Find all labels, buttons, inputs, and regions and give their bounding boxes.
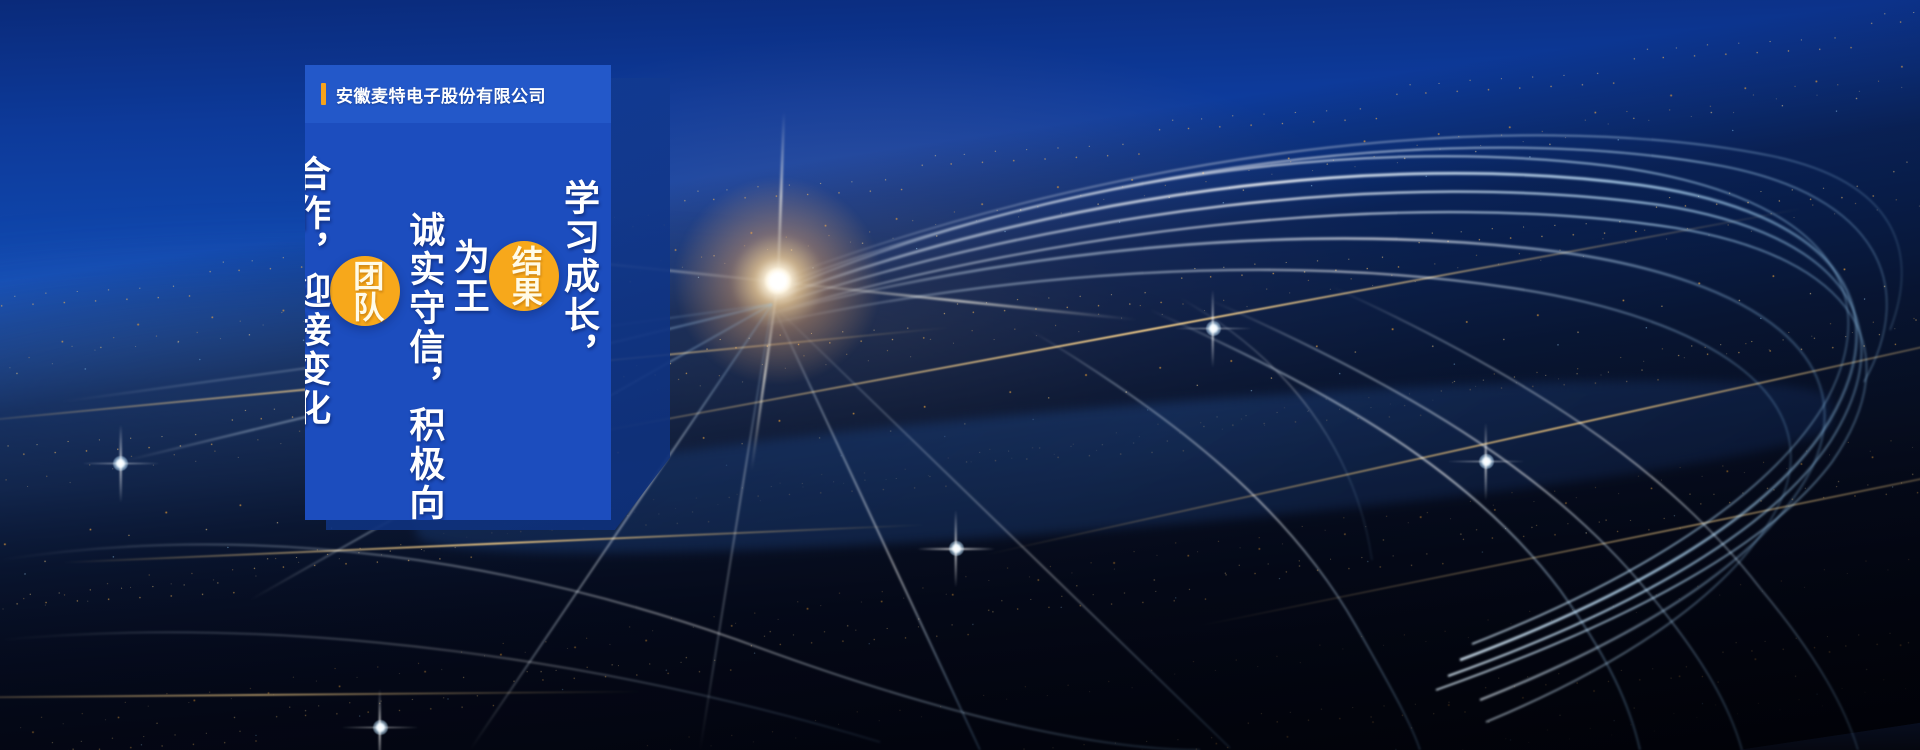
slogan-badge-text: 团队 [349,260,381,322]
card-header: 安徽麦特电子股份有限公司 [305,65,611,123]
network-node [1479,454,1494,469]
slogan-text: 为王 [448,238,488,316]
company-banner: 安徽麦特电子股份有限公司 学习成长， 结果 为王 诚实守信，积极向上 团队 合作… [0,0,1920,750]
slogan-column-teamwork: 团队 合作，迎接变化 [290,145,400,428]
slogan-column-learning: 学习成长， 结果 为王 [448,145,599,374]
slogan-badge-result: 结果 [489,241,559,311]
slogan-text: 诚实守信，积极向上 [404,211,444,562]
network-node [1206,321,1221,336]
slogan-columns: 学习成长， 结果 为王 诚实守信，积极向上 团队 合作，迎接变化 客户第一，感恩… [305,123,611,520]
company-info-card: 安徽麦特电子股份有限公司 学习成长， 结果 为王 诚实守信，积极向上 团队 合作… [305,65,611,520]
slogan-badge-text: 结果 [508,245,540,307]
network-light-trails [0,0,1920,750]
slogan-badge-team: 团队 [330,256,400,326]
slogan-column-integrity: 诚实守信，积极向上 [404,145,444,562]
slogan-text: 学习成长， [559,179,599,374]
company-name-title: 安徽麦特电子股份有限公司 [336,82,546,107]
network-node [373,720,388,735]
accent-bar-icon [321,83,326,105]
